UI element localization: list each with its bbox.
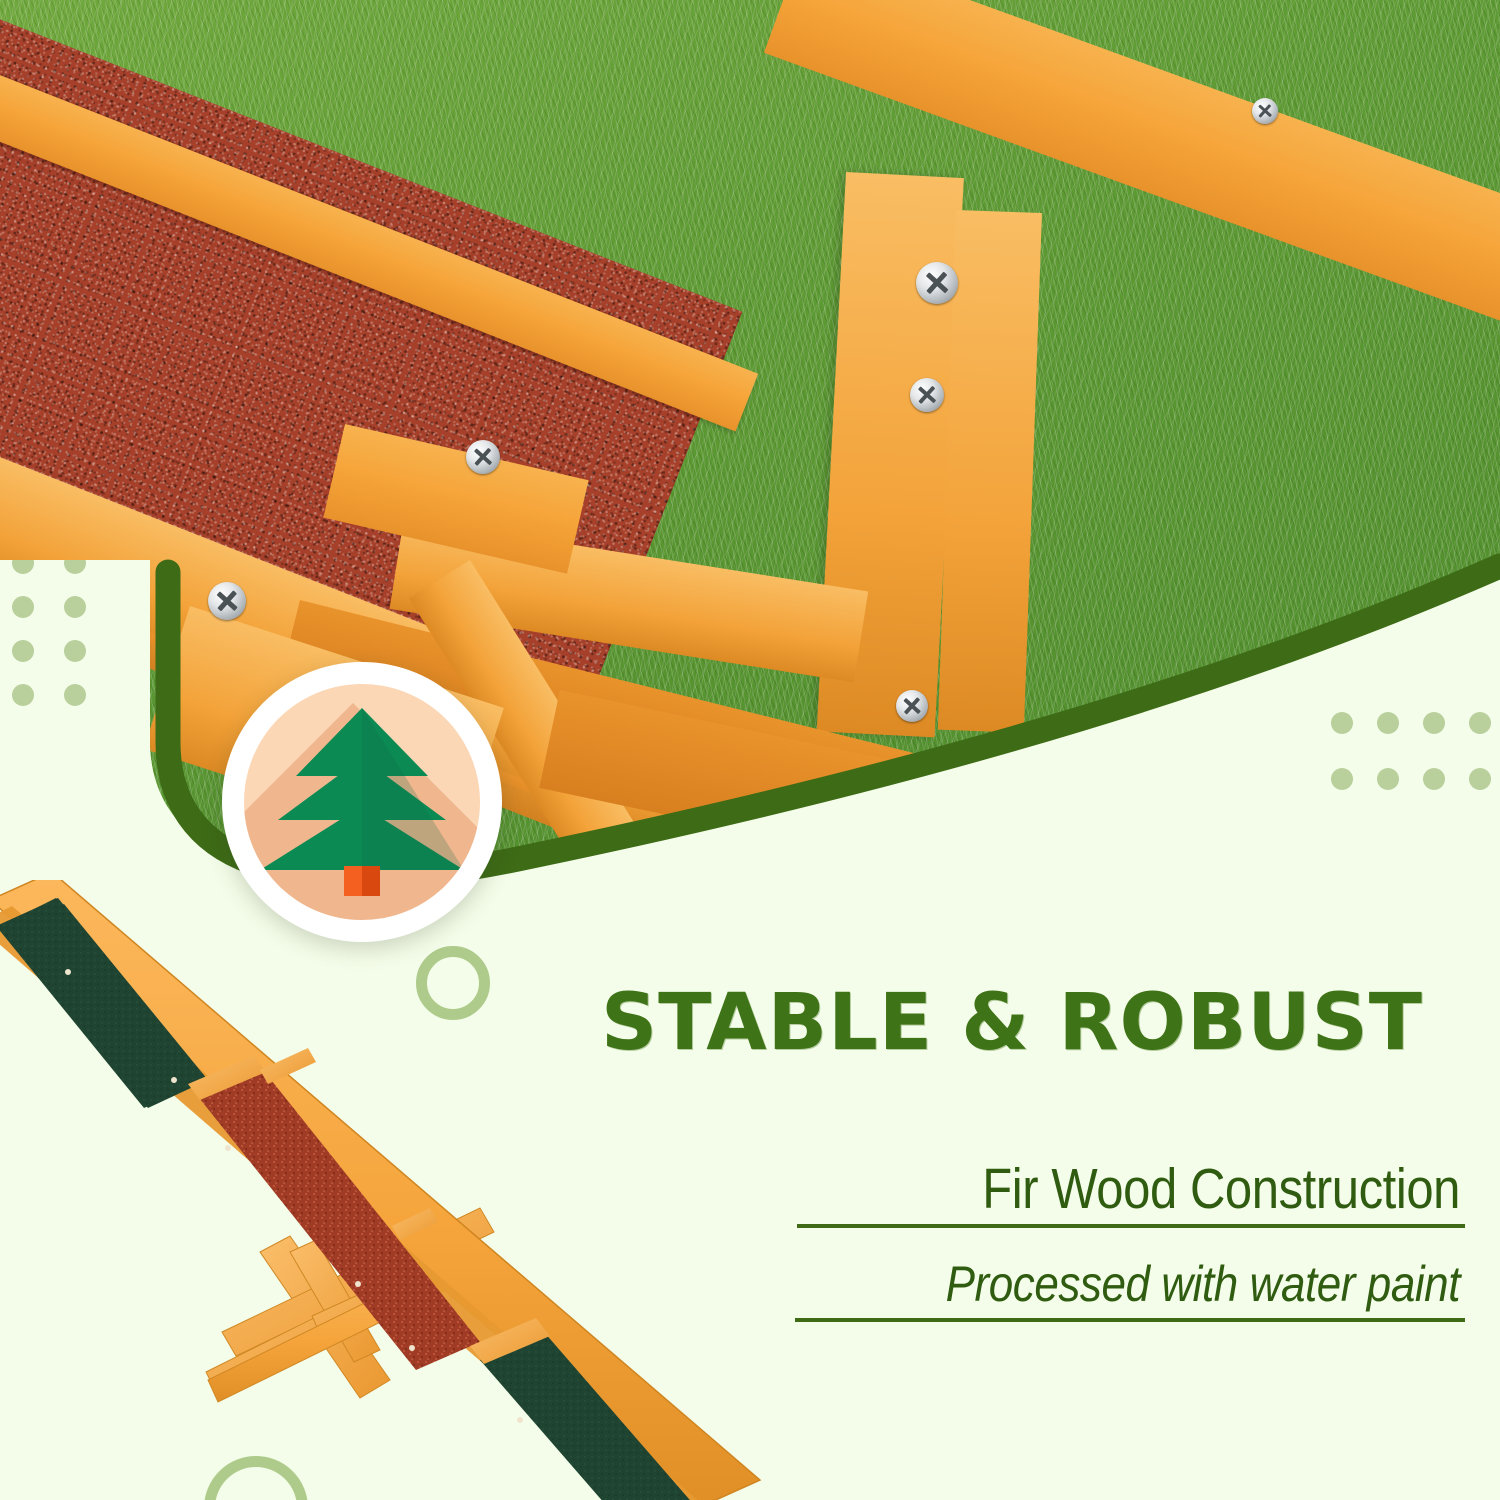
decorative-dot [64, 596, 86, 618]
decorative-dot [12, 684, 34, 706]
page-title: STABLE & ROBUST [562, 984, 1462, 1062]
screw-icon [910, 378, 944, 412]
decorative-dot [64, 640, 86, 662]
decorative-dot-grid-left [12, 552, 116, 728]
product-photo-panel [0, 0, 1500, 880]
screw-icon [916, 262, 958, 304]
feature-line-underline [797, 1224, 1465, 1228]
feature-line-water-paint: Processed with water paint [650, 1255, 1460, 1313]
decorative-dot [12, 596, 34, 618]
screw-icon [466, 440, 500, 474]
decorative-dot [1469, 712, 1491, 734]
screw-icon [896, 690, 928, 722]
feature-line-fir-wood: Fir Wood Construction [669, 1156, 1460, 1222]
decorative-dot [1377, 712, 1399, 734]
decorative-dot [1331, 712, 1353, 734]
decorative-dot [1331, 768, 1353, 790]
marketing-banner: STABLE & ROBUST Fir Wood Construction Pr… [0, 0, 1500, 1500]
decorative-dot [64, 684, 86, 706]
decorative-dot [1423, 768, 1445, 790]
screw-icon [208, 582, 246, 620]
decorative-dot [12, 640, 34, 662]
decorative-dot-grid-right [1331, 712, 1500, 824]
feature-line-underline [795, 1318, 1465, 1322]
decorative-dot [1377, 768, 1399, 790]
decorative-dot [1423, 712, 1445, 734]
seesaw-closeup-photo [0, 0, 1500, 880]
decorative-dot [1469, 768, 1491, 790]
screw-icon [1252, 98, 1278, 124]
